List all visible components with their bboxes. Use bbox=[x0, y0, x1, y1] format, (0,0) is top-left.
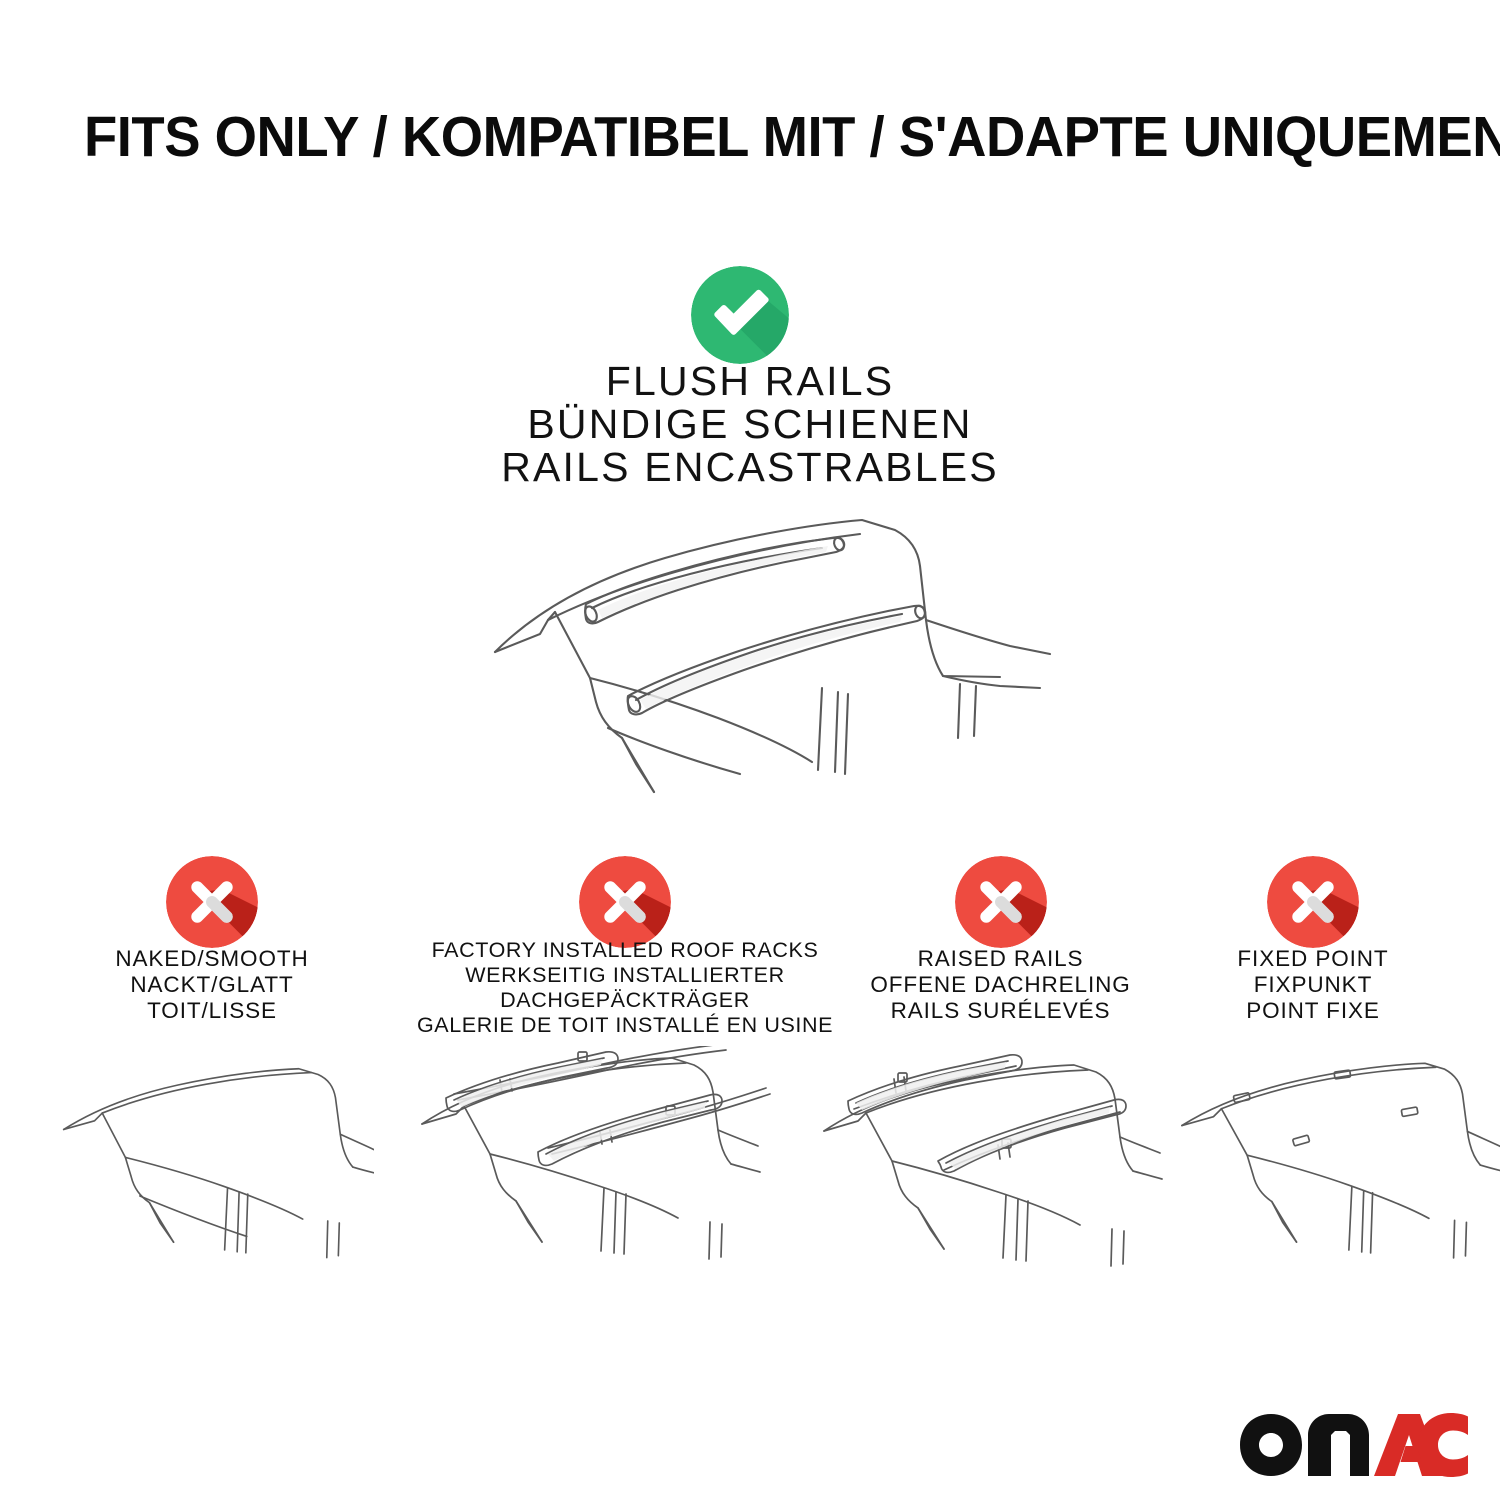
flush-rails-label-de: BÜNDIGE SCHIENEN bbox=[380, 403, 1120, 446]
incompatible-options-row: NAKED/SMOOTH NACKT/GLATT TOIT/LISSE bbox=[0, 848, 1500, 1278]
option-label-fr: GALERIE DE TOIT INSTALLÉ EN USINE bbox=[400, 1013, 850, 1038]
omac-logo bbox=[1238, 1412, 1470, 1478]
flush-rails-labels: FLUSH RAILS BÜNDIGE SCHIENEN RAILS ENCAS… bbox=[380, 360, 1120, 489]
option-label-de: FIXPUNKT bbox=[1168, 972, 1458, 998]
option-label-fr: RAILS SURÉLEVÉS bbox=[828, 998, 1173, 1024]
page-title: FITS ONLY / KOMPATIBEL MIT / S'ADAPTE UN… bbox=[84, 108, 1364, 168]
option-factory-roof-racks: FACTORY INSTALLED ROOF RACKS WERKSEITIG … bbox=[400, 848, 850, 1278]
cross-circle-icon bbox=[579, 856, 671, 948]
option-naked-smooth: NAKED/SMOOTH NACKT/GLATT TOIT/LISSE bbox=[42, 848, 382, 1278]
option-label-de: NACKT/GLATT bbox=[42, 972, 382, 998]
car-roof-flush-rails-illustration bbox=[440, 492, 1060, 812]
car-roof-naked-smooth-illustration bbox=[56, 1053, 374, 1283]
flush-rails-label-fr: RAILS ENCASTRABLES bbox=[380, 446, 1120, 489]
option-fixed-point-labels: FIXED POINT FIXPUNKT POINT FIXE bbox=[1168, 946, 1458, 1024]
cross-circle-icon bbox=[1267, 856, 1359, 948]
option-label-en: FIXED POINT bbox=[1168, 946, 1458, 972]
option-fixed-point: FIXED POINT FIXPUNKT POINT FIXE bbox=[1168, 848, 1458, 1278]
option-label-en: NAKED/SMOOTH bbox=[42, 946, 382, 972]
option-raised-rails: RAISED RAILS OFFENE DACHRELING RAILS SUR… bbox=[828, 848, 1173, 1278]
check-circle-icon bbox=[691, 266, 789, 364]
option-label-de2: DACHGEPÄCKTRÄGER bbox=[400, 988, 850, 1013]
fitment-infographic: FITS ONLY / KOMPATIBEL MIT / S'ADAPTE UN… bbox=[0, 0, 1500, 1500]
option-label-en: RAISED RAILS bbox=[828, 946, 1173, 972]
cross-circle-icon bbox=[166, 856, 258, 948]
option-raised-rails-labels: RAISED RAILS OFFENE DACHRELING RAILS SUR… bbox=[828, 946, 1173, 1024]
cross-circle-icon bbox=[955, 856, 1047, 948]
car-roof-fixed-point-illustration bbox=[1176, 1053, 1500, 1283]
option-factory-roof-racks-labels: FACTORY INSTALLED ROOF RACKS WERKSEITIG … bbox=[400, 938, 850, 1038]
car-roof-factory-roof-racks-illustration bbox=[418, 1046, 774, 1276]
option-label-en: FACTORY INSTALLED ROOF RACKS bbox=[400, 938, 850, 963]
option-label-fr: TOIT/LISSE bbox=[42, 998, 382, 1024]
car-roof-raised-rails-illustration bbox=[820, 1053, 1176, 1283]
option-label-de: OFFENE DACHRELING bbox=[828, 972, 1173, 998]
option-naked-smooth-labels: NAKED/SMOOTH NACKT/GLATT TOIT/LISSE bbox=[42, 946, 382, 1024]
option-label-de: WERKSEITIG INSTALLIERTER bbox=[400, 963, 850, 988]
flush-rails-label-en: FLUSH RAILS bbox=[380, 360, 1120, 403]
option-label-fr: POINT FIXE bbox=[1168, 998, 1458, 1024]
